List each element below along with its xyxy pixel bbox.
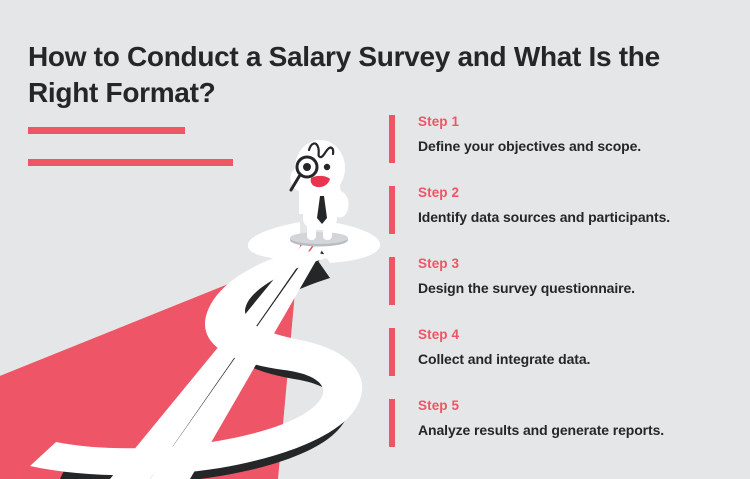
character-arm-right bbox=[334, 190, 349, 218]
step-item-5: Step 5 Analyze results and generate repo… bbox=[389, 398, 739, 469]
step-item-2: Step 2 Identify data sources and partici… bbox=[389, 185, 739, 256]
step-description: Design the survey questionnaire. bbox=[418, 279, 739, 297]
step-item-3: Step 3 Design the survey questionnaire. bbox=[389, 256, 739, 327]
character-eye-right bbox=[324, 164, 330, 170]
step-accent-bar bbox=[389, 257, 395, 305]
accent-rule-long bbox=[28, 159, 233, 166]
character-head bbox=[295, 140, 345, 196]
step-description: Define your objectives and scope. bbox=[418, 137, 739, 155]
step-description: Analyze results and generate reports. bbox=[418, 421, 739, 439]
step-accent-bar bbox=[389, 115, 395, 163]
step-label: Step 3 bbox=[418, 256, 739, 272]
step-item-4: Step 4 Collect and integrate data. bbox=[389, 327, 739, 398]
infographic-page: How to Conduct a Salary Survey and What … bbox=[0, 0, 750, 479]
step-label: Step 1 bbox=[418, 114, 739, 130]
step-accent-bar bbox=[389, 186, 395, 234]
steps-list: Step 1 Define your objectives and scope.… bbox=[389, 114, 739, 469]
step-label: Step 2 bbox=[418, 185, 739, 201]
step-label: Step 5 bbox=[418, 398, 739, 414]
character-platform-top bbox=[290, 232, 348, 244]
step-label: Step 4 bbox=[418, 327, 739, 343]
accent-rule-short bbox=[28, 127, 185, 134]
step-description: Collect and integrate data. bbox=[418, 350, 739, 368]
step-accent-bar bbox=[389, 328, 395, 376]
step-item-1: Step 1 Define your objectives and scope. bbox=[389, 114, 739, 185]
page-title: How to Conduct a Salary Survey and What … bbox=[28, 39, 728, 111]
step-description: Identify data sources and participants. bbox=[418, 208, 739, 226]
step-accent-bar bbox=[389, 399, 395, 447]
